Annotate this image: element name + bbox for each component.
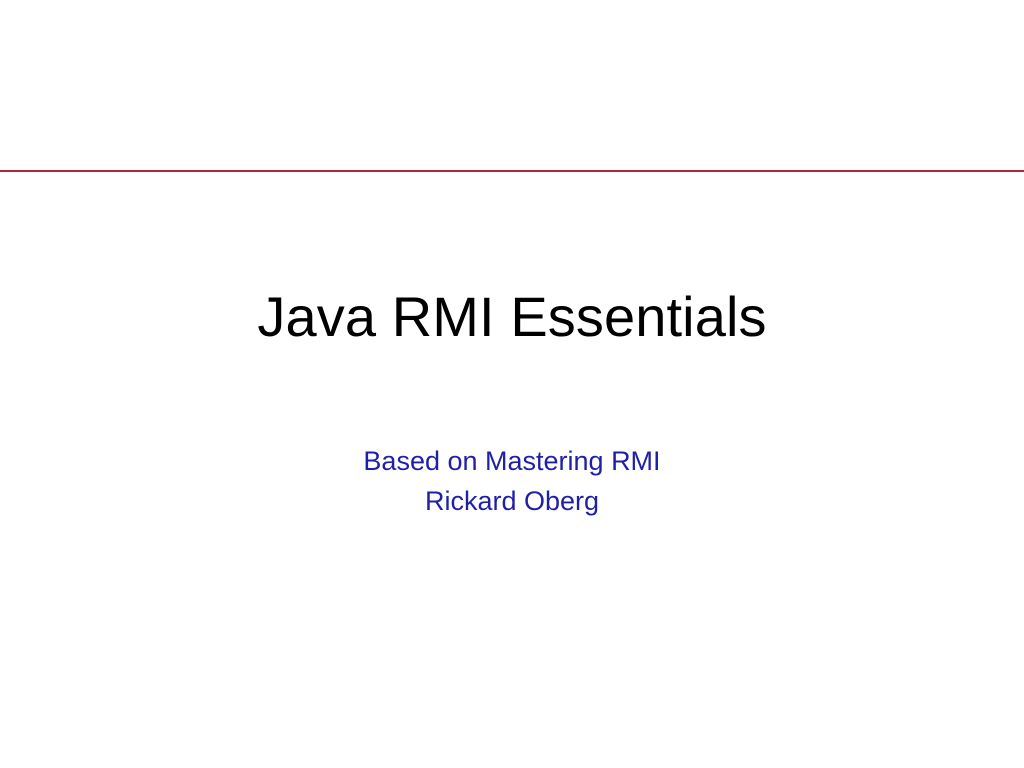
page-title: Java RMI Essentials — [0, 286, 1024, 348]
subtitle-block: Based on Mastering RMI Rickard Oberg — [0, 441, 1024, 521]
header-divider-rule — [0, 170, 1024, 172]
subtitle-line-author: Rickard Oberg — [0, 481, 1024, 521]
slide-header-band — [0, 0, 1024, 170]
title-block: Java RMI Essentials — [0, 286, 1024, 348]
subtitle-line-source: Based on Mastering RMI — [0, 441, 1024, 481]
slide-canvas: Java RMI Essentials Based on Mastering R… — [0, 0, 1024, 768]
